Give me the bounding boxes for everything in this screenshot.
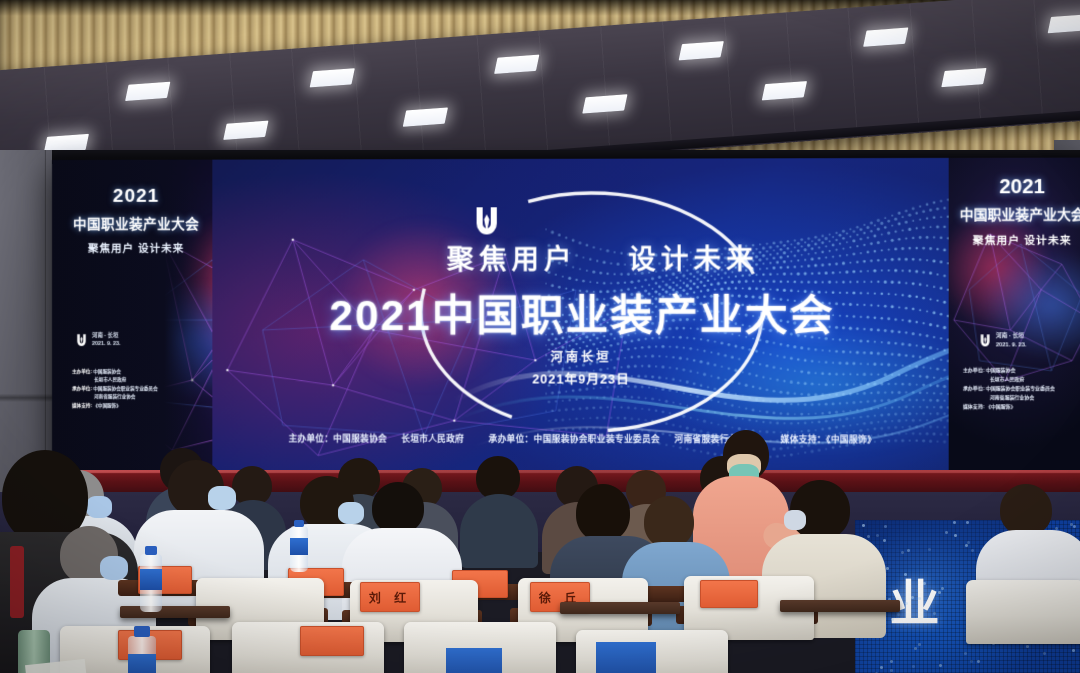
ceiling-light-panel xyxy=(679,41,724,60)
main-led-wall: 2021 中国职业装产业大会 聚焦用户 设计未来 河南 · 长垣 2021. 9… xyxy=(52,158,1080,475)
name-card[interactable]: 刘 红 xyxy=(360,582,420,612)
ceiling-light-panel xyxy=(762,81,807,100)
name-card xyxy=(700,580,758,608)
table-cloth xyxy=(596,642,656,673)
right-organizer-label: 主办单位: xyxy=(963,369,984,374)
left-media-1: 《中国服饰》 xyxy=(93,403,121,408)
audience-area: 刘 红 徐 丘 xyxy=(0,430,1080,673)
right-panel-logo-caption: 河南 · 长垣 2021. 9. 23. xyxy=(996,332,1026,350)
table-edge xyxy=(120,606,230,618)
water-bottle xyxy=(290,526,308,572)
ceiling-light-panel xyxy=(125,82,170,101)
left-panel-slogan: 聚焦用户 设计未来 xyxy=(60,241,212,256)
right-host-label: 承办单位: xyxy=(963,387,984,392)
table-cloth xyxy=(446,648,502,673)
right-panel-logo-place: 河南 · 长垣 xyxy=(996,332,1026,341)
main-place: 河南长垣 xyxy=(212,348,953,366)
left-host-label: 承办单位: xyxy=(72,386,92,391)
right-organizer-1: 中国服装协会 xyxy=(986,369,1016,374)
main-date: 2021年9月23日 xyxy=(212,368,953,388)
left-panel-logo-date: 2021. 9. 23. xyxy=(92,340,121,348)
led-right-side-panel: 2021 中国职业装产业大会 聚焦用户 设计未来 河南 · 长垣 2021. 9… xyxy=(949,158,1080,475)
left-host-1: 中国服装协会职业装专业委员会 xyxy=(93,386,157,391)
right-panel-logo-row: 河南 · 长垣 2021. 9. 23. xyxy=(979,332,1026,350)
left-panel-text-block: 2021 中国职业装产业大会 聚焦用户 设计未来 xyxy=(60,186,212,256)
left-media-label: 媒体支持: xyxy=(72,403,92,408)
necktie-u-logo-icon xyxy=(474,205,500,239)
ceiling-light-panel xyxy=(1048,14,1080,33)
main-title: 2021中国职业装产业大会 xyxy=(212,282,953,344)
ceiling-light-panel xyxy=(582,94,627,113)
ceiling-light-panel xyxy=(494,55,539,74)
right-host-1: 中国服装协会职业装专业委员会 xyxy=(986,387,1055,392)
name-card xyxy=(300,626,364,656)
right-host-2: 河南省服装行业协会 xyxy=(990,396,1034,401)
ceiling-light-panel xyxy=(941,68,986,87)
ceiling-light-panel xyxy=(403,107,448,126)
right-panel-credits: 主办单位: 中国服装协会 长垣市人民政府 承办单位: 中国服装协会职业装专业委员… xyxy=(963,367,1055,413)
left-panel-title: 中国职业装产业大会 xyxy=(60,213,212,233)
led-main-panel: 聚焦用户 设计未来 2021中国职业装产业大会 河南长垣 2021年9月23日 … xyxy=(212,158,953,474)
right-panel-logo-date: 2021. 9. 23. xyxy=(996,341,1026,350)
left-organizer-label: 主办单位: xyxy=(72,369,92,374)
left-panel-logo-row: 河南 · 长垣 2021. 9. 23. xyxy=(76,332,121,348)
right-media-label: 媒体支持: xyxy=(963,406,984,411)
necktie-u-logo-icon xyxy=(76,333,87,348)
ceiling-light-panel xyxy=(223,121,268,140)
left-panel-logo-caption: 河南 · 长垣 2021. 9. 23. xyxy=(92,332,121,348)
right-organizer-2: 长垣市人民政府 xyxy=(990,378,1025,383)
necktie-u-logo-icon xyxy=(979,333,990,348)
right-panel-title: 中国职业装产业大会 xyxy=(949,203,1080,224)
table-edge xyxy=(560,602,680,614)
chair-back xyxy=(966,580,1080,644)
left-host-2: 河南省服装行业协会 xyxy=(94,395,135,400)
right-panel-slogan: 聚焦用户 设计未来 xyxy=(949,233,1080,248)
left-panel-logo-place: 河南 · 长垣 xyxy=(92,332,121,340)
main-slogan: 聚焦用户 设计未来 xyxy=(212,237,953,277)
ceiling-light-panel xyxy=(310,68,355,87)
water-bottle xyxy=(128,636,156,673)
conference-hall-photo: 2021 中国职业装产业大会 聚焦用户 设计未来 河南 · 长垣 2021. 9… xyxy=(0,0,1080,673)
main-slogan-left: 聚焦用户 xyxy=(447,244,577,274)
table-edge xyxy=(780,600,900,612)
right-panel-text-block: 2021 中国职业装产业大会 聚焦用户 设计未来 xyxy=(949,176,1080,248)
left-organizer-1: 中国服装协会 xyxy=(93,369,121,374)
ceiling-light-panel xyxy=(863,27,908,46)
right-media-1: 《中国服饰》 xyxy=(986,406,1016,411)
water-bottle xyxy=(140,554,162,612)
main-slogan-right: 设计未来 xyxy=(628,244,758,274)
right-panel-year: 2021 xyxy=(949,176,1080,200)
left-panel-year: 2021 xyxy=(60,186,212,208)
left-panel-credits: 主办单位: 中国服装协会 长垣市人民政府 承办单位: 中国服装协会职业装专业委员… xyxy=(72,368,158,411)
left-organizer-2: 长垣市人民政府 xyxy=(94,378,126,383)
lanyard xyxy=(10,546,24,618)
